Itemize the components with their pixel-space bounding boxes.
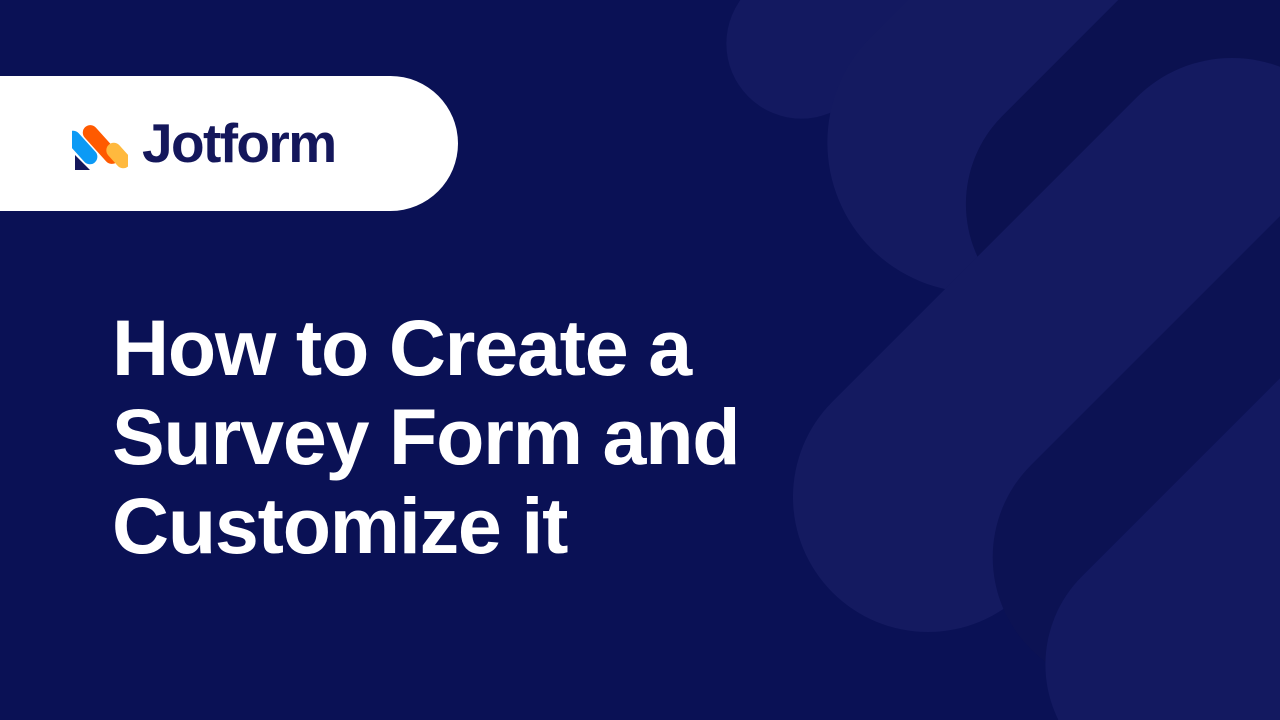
- decor-bar-1: [765, 0, 1280, 355]
- title-slide: Jotform How to Create a Survey Form and …: [0, 0, 1280, 720]
- decor-bar-4: [939, 119, 1280, 720]
- decor-bar-5: [994, 269, 1280, 720]
- jotform-logo-mark-icon: [72, 115, 128, 173]
- decor-bar-3: [737, 2, 1280, 688]
- decor-bar-6: [695, 0, 1034, 150]
- decor-bar-2: [914, 0, 1280, 381]
- slide-title: How to Create a Survey Form and Customiz…: [112, 303, 812, 570]
- slide-title-line-1: How to Create a: [112, 303, 812, 392]
- jotform-logo-lockup[interactable]: Jotform: [72, 115, 336, 173]
- slide-title-line-3: Customize it: [112, 481, 812, 570]
- slide-title-line-2: Survey Form and: [112, 392, 812, 481]
- brand-logo-pill[interactable]: Jotform: [0, 76, 458, 211]
- jotform-wordmark: Jotform: [142, 116, 336, 171]
